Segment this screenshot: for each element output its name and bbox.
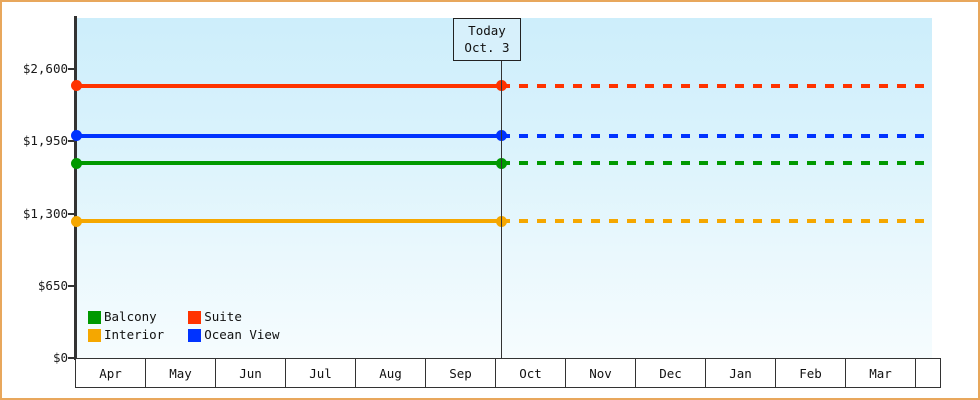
series-start-dot: [71, 158, 82, 169]
y-axis-tick-label: $650: [4, 280, 68, 293]
today-vertical-line: [501, 18, 503, 358]
y-axis-tick-label: $2,600: [4, 63, 68, 76]
series-line-dashed-forecast: [501, 161, 932, 165]
x-axis-month-cell: Oct: [496, 359, 566, 387]
x-axis-month-cell: Nov: [566, 359, 636, 387]
series-line-solid: [76, 161, 501, 165]
x-axis-month-cell: Dec: [636, 359, 706, 387]
x-axis-month-cell: Mar: [846, 359, 916, 387]
chart-legend: BalconySuiteInteriorOcean View: [88, 310, 279, 342]
series-line-dashed-forecast: [501, 134, 932, 138]
legend-item-label: Ocean View: [204, 328, 279, 342]
series-line-dashed-forecast: [501, 219, 932, 223]
x-axis-month-cell: Jun: [216, 359, 286, 387]
series-line-solid: [76, 134, 501, 138]
legend-color-swatch-icon: [88, 329, 101, 342]
legend-item-label: Balcony: [104, 310, 157, 324]
today-date: Oct. 3: [464, 39, 509, 56]
x-axis-month-table: AprMayJunJulAugSepOctNovDecJanFebMar: [75, 358, 941, 388]
y-axis-tick-mark: [68, 68, 76, 70]
legend-item[interactable]: Balcony: [88, 310, 164, 324]
legend-item-label: Interior: [104, 328, 164, 342]
x-axis-month-cell: May: [146, 359, 216, 387]
x-axis-month-cell: Jan: [706, 359, 776, 387]
legend-item[interactable]: Suite: [188, 310, 279, 324]
y-axis-tick-label: $0: [4, 352, 68, 365]
x-axis-month-cell: Feb: [776, 359, 846, 387]
x-axis-month-cell: Jul: [286, 359, 356, 387]
y-axis-tick-labels: $0$650$1,300$1,950$2,600: [0, 0, 68, 400]
plot-area: [77, 18, 932, 358]
series-start-dot: [71, 216, 82, 227]
y-axis-tick-mark: [68, 213, 76, 215]
cruise-price-chart: $0$650$1,300$1,950$2,600 Today Oct. 3 Ap…: [0, 0, 980, 400]
legend-item-label: Suite: [204, 310, 242, 324]
series-line-solid: [76, 84, 501, 88]
legend-item[interactable]: Interior: [88, 328, 164, 342]
x-axis-month-cell: Sep: [426, 359, 496, 387]
y-axis-tick-label: $1,300: [4, 208, 68, 221]
x-axis-month-cell-partial: [916, 359, 941, 387]
today-label: Today: [464, 22, 509, 39]
y-axis-tick-mark: [68, 285, 76, 287]
series-line-solid: [76, 219, 501, 223]
legend-color-swatch-icon: [188, 329, 201, 342]
legend-color-swatch-icon: [88, 311, 101, 324]
legend-color-swatch-icon: [188, 311, 201, 324]
x-axis-month-cell: Apr: [76, 359, 146, 387]
series-line-dashed-forecast: [501, 84, 932, 88]
y-axis-tick-label: $1,950: [4, 135, 68, 148]
legend-item[interactable]: Ocean View: [188, 328, 279, 342]
x-axis-month-cell: Aug: [356, 359, 426, 387]
today-marker-box: Today Oct. 3: [453, 18, 520, 61]
